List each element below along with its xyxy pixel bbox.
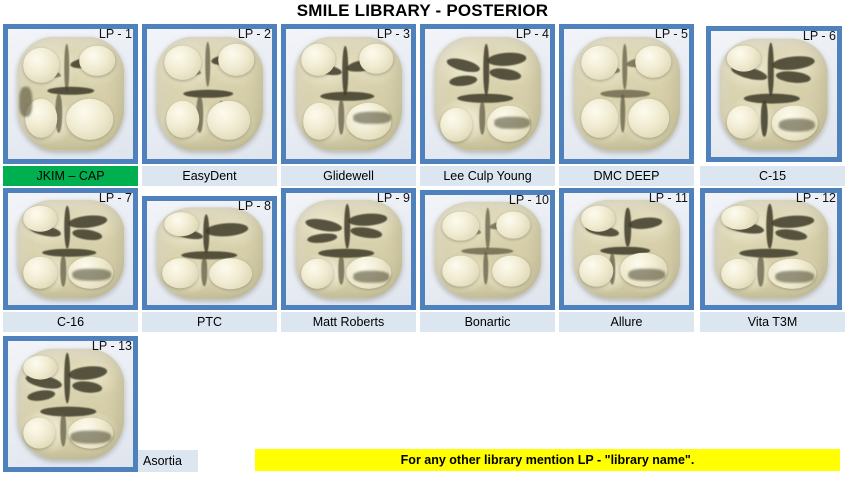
lp-tag-lp-9: LP - 9	[377, 191, 410, 205]
tooth-image-lp-8	[147, 201, 272, 305]
tooth-cell-lp-10[interactable]: LP - 10	[420, 190, 555, 310]
tooth-label-lp-7[interactable]: C-16	[3, 312, 138, 332]
note-banner: For any other library mention LP - "libr…	[255, 449, 840, 471]
lp-tag-lp-13: LP - 13	[92, 339, 132, 353]
tooth-label-lp-8[interactable]: PTC	[142, 312, 277, 332]
tooth-render-lp-6	[720, 39, 828, 150]
tooth-image-lp-2	[147, 29, 272, 159]
tooth-image-lp-3	[286, 29, 411, 159]
tooth-label-lp-4[interactable]: Lee Culp Young	[420, 166, 555, 186]
tooth-image-lp-6	[711, 31, 837, 157]
tooth-render-lp-3	[295, 37, 403, 151]
lp-tag-lp-5: LP - 5	[655, 27, 688, 41]
tooth-cell-lp-8[interactable]: LP - 8	[142, 196, 277, 310]
tooth-render-lp-7	[17, 200, 125, 299]
lp-tag-lp-1: LP - 1	[99, 27, 132, 41]
tooth-label-lp-1[interactable]: JKIM – CAP	[3, 166, 138, 186]
tooth-label-lp-10[interactable]: Bonartic	[420, 312, 555, 332]
lp-tag-lp-7: LP - 7	[99, 191, 132, 205]
lp-tag-lp-10: LP - 10	[509, 193, 549, 207]
lp-tag-lp-3: LP - 3	[377, 27, 410, 41]
tooth-render-lp-10	[434, 202, 542, 299]
tooth-render-lp-2	[156, 37, 264, 151]
tooth-image-lp-12	[705, 193, 837, 305]
tooth-cell-lp-9[interactable]: LP - 9	[281, 188, 416, 310]
tooth-cell-lp-4[interactable]: LP - 4	[420, 24, 555, 164]
tooth-image-lp-13	[8, 341, 133, 467]
tooth-render-lp-12	[714, 200, 828, 299]
tooth-cell-lp-12[interactable]: LP - 12	[700, 188, 842, 310]
tooth-cell-lp-3[interactable]: LP - 3	[281, 24, 416, 164]
lp-tag-lp-8: LP - 8	[238, 199, 271, 213]
tooth-label-lp-11[interactable]: Allure	[559, 312, 694, 332]
tooth-cell-lp-2[interactable]: LP - 2	[142, 24, 277, 164]
lp-tag-lp-2: LP - 2	[238, 27, 271, 41]
tooth-label-lp-6[interactable]: C-15	[700, 166, 845, 186]
tooth-label-lp-12[interactable]: Vita T3M	[700, 312, 845, 332]
tooth-cell-lp-6[interactable]: LP - 6	[706, 26, 842, 162]
tooth-image-lp-4	[425, 29, 550, 159]
lp-tag-lp-6: LP - 6	[803, 29, 836, 43]
tooth-cell-lp-11[interactable]: LP - 11	[559, 188, 694, 310]
tooth-render-lp-11	[573, 200, 681, 299]
tooth-render-lp-9	[295, 200, 403, 299]
tooth-image-lp-5	[564, 29, 689, 159]
tooth-image-lp-9	[286, 193, 411, 305]
tooth-cell-lp-1[interactable]: LP - 1	[3, 24, 138, 164]
tooth-label-lp-3[interactable]: Glidewell	[281, 166, 416, 186]
tooth-render-lp-4	[434, 37, 542, 151]
tooth-render-lp-8	[156, 207, 264, 299]
tooth-image-lp-7	[8, 193, 133, 305]
tooth-label-lp-5[interactable]: DMC DEEP	[559, 166, 694, 186]
tooth-library-grid: LP - 1 JKIM – CAP LP - 2 EasyDent	[0, 0, 845, 487]
lp-tag-lp-11: LP - 11	[649, 191, 688, 205]
tooth-render-lp-1	[17, 37, 125, 151]
tooth-label-lp-9[interactable]: Matt Roberts	[281, 312, 416, 332]
tooth-label-lp-2[interactable]: EasyDent	[142, 166, 277, 186]
tooth-cell-lp-7[interactable]: LP - 7	[3, 188, 138, 310]
tooth-label-lp-13[interactable]: Asortia	[138, 450, 198, 472]
tooth-image-lp-1	[8, 29, 133, 159]
lp-tag-lp-4: LP - 4	[516, 27, 549, 41]
tooth-cell-lp-5[interactable]: LP - 5	[559, 24, 694, 164]
tooth-render-lp-13	[17, 349, 125, 460]
lp-tag-lp-12: LP - 12	[796, 191, 836, 205]
tooth-image-lp-10	[425, 195, 550, 305]
tooth-cell-lp-13[interactable]: LP - 13	[3, 336, 138, 472]
tooth-image-lp-11	[564, 193, 689, 305]
tooth-render-lp-5	[573, 37, 681, 151]
